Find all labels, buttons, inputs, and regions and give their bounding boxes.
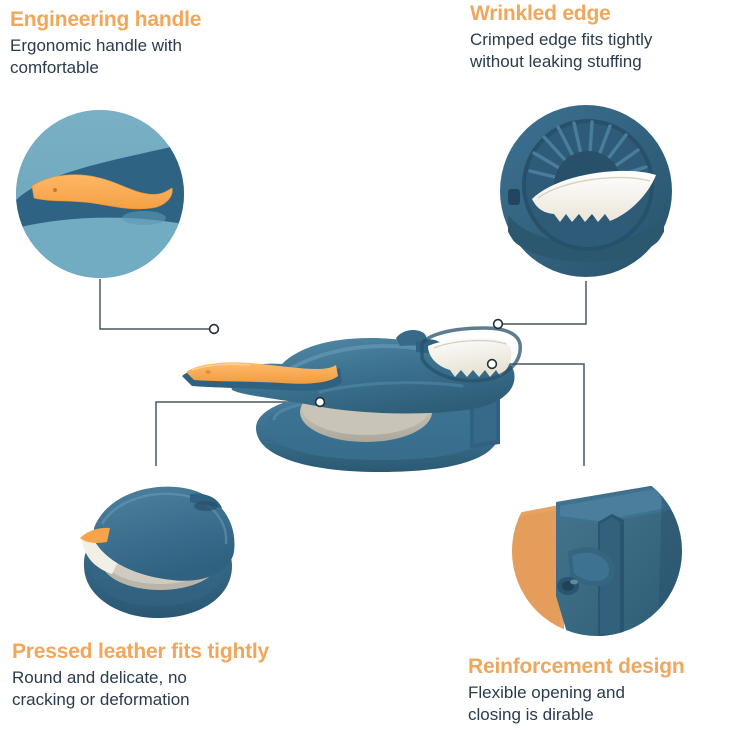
callout-dot-reinforcement-design [488,360,497,369]
callout-dot-wrinkled-edge [494,320,503,329]
callout-body-pressed-leather: Round and delicate, no cracking or defor… [12,667,269,712]
callout-title-reinforcement-design: Reinforcement design [468,655,685,679]
callout-body-wrinkled-edge: Crimped edge fits tightly without leakin… [470,29,652,74]
detail-image-hinge-reinforcement-closeup [512,466,682,636]
callout-engineering-handle: Engineering handle Ergonomic handle with… [10,8,201,79]
callout-title-pressed-leather: Pressed leather fits tightly [12,640,269,664]
callout-pressed-leather: Pressed leather fits tightly Round and d… [12,640,269,711]
callout-body-reinforcement-design: Flexible opening and closing is dirable [468,682,685,727]
detail-image-handle-grip-closeup [16,110,184,278]
callout-body-line: Crimped edge fits tightly [470,29,652,51]
product-image-dumpling-maker [170,272,570,487]
callout-body-line: Round and delicate, no [12,667,269,689]
infographic-stage: Engineering handle Ergonomic handle with… [0,0,750,745]
callout-body-line: Ergonomic handle with [10,35,201,57]
callout-reinforcement-design: Reinforcement design Flexible opening an… [468,655,685,726]
callout-body-line: without leaking stuffing [470,51,652,73]
callout-wrinkled-edge: Wrinkled edge Crimped edge fits tightly … [470,2,652,73]
callout-body-line: Flexible opening and [468,682,685,704]
callout-body-line: comfortable [10,57,201,79]
detail-image-pressed-wrapper-closeup [72,466,242,636]
callout-title-wrinkled-edge: Wrinkled edge [470,2,652,26]
detail-image-crimped-edge-dumpling-closeup [498,103,674,279]
callout-dot-engineering-handle [210,325,219,334]
callout-dot-pressed-leather [316,398,325,407]
callout-body-engineering-handle: Ergonomic handle with comfortable [10,35,201,80]
callout-body-line: cracking or deformation [12,689,269,711]
callout-body-line: closing is dirable [468,704,685,726]
callout-title-engineering-handle: Engineering handle [10,8,201,32]
